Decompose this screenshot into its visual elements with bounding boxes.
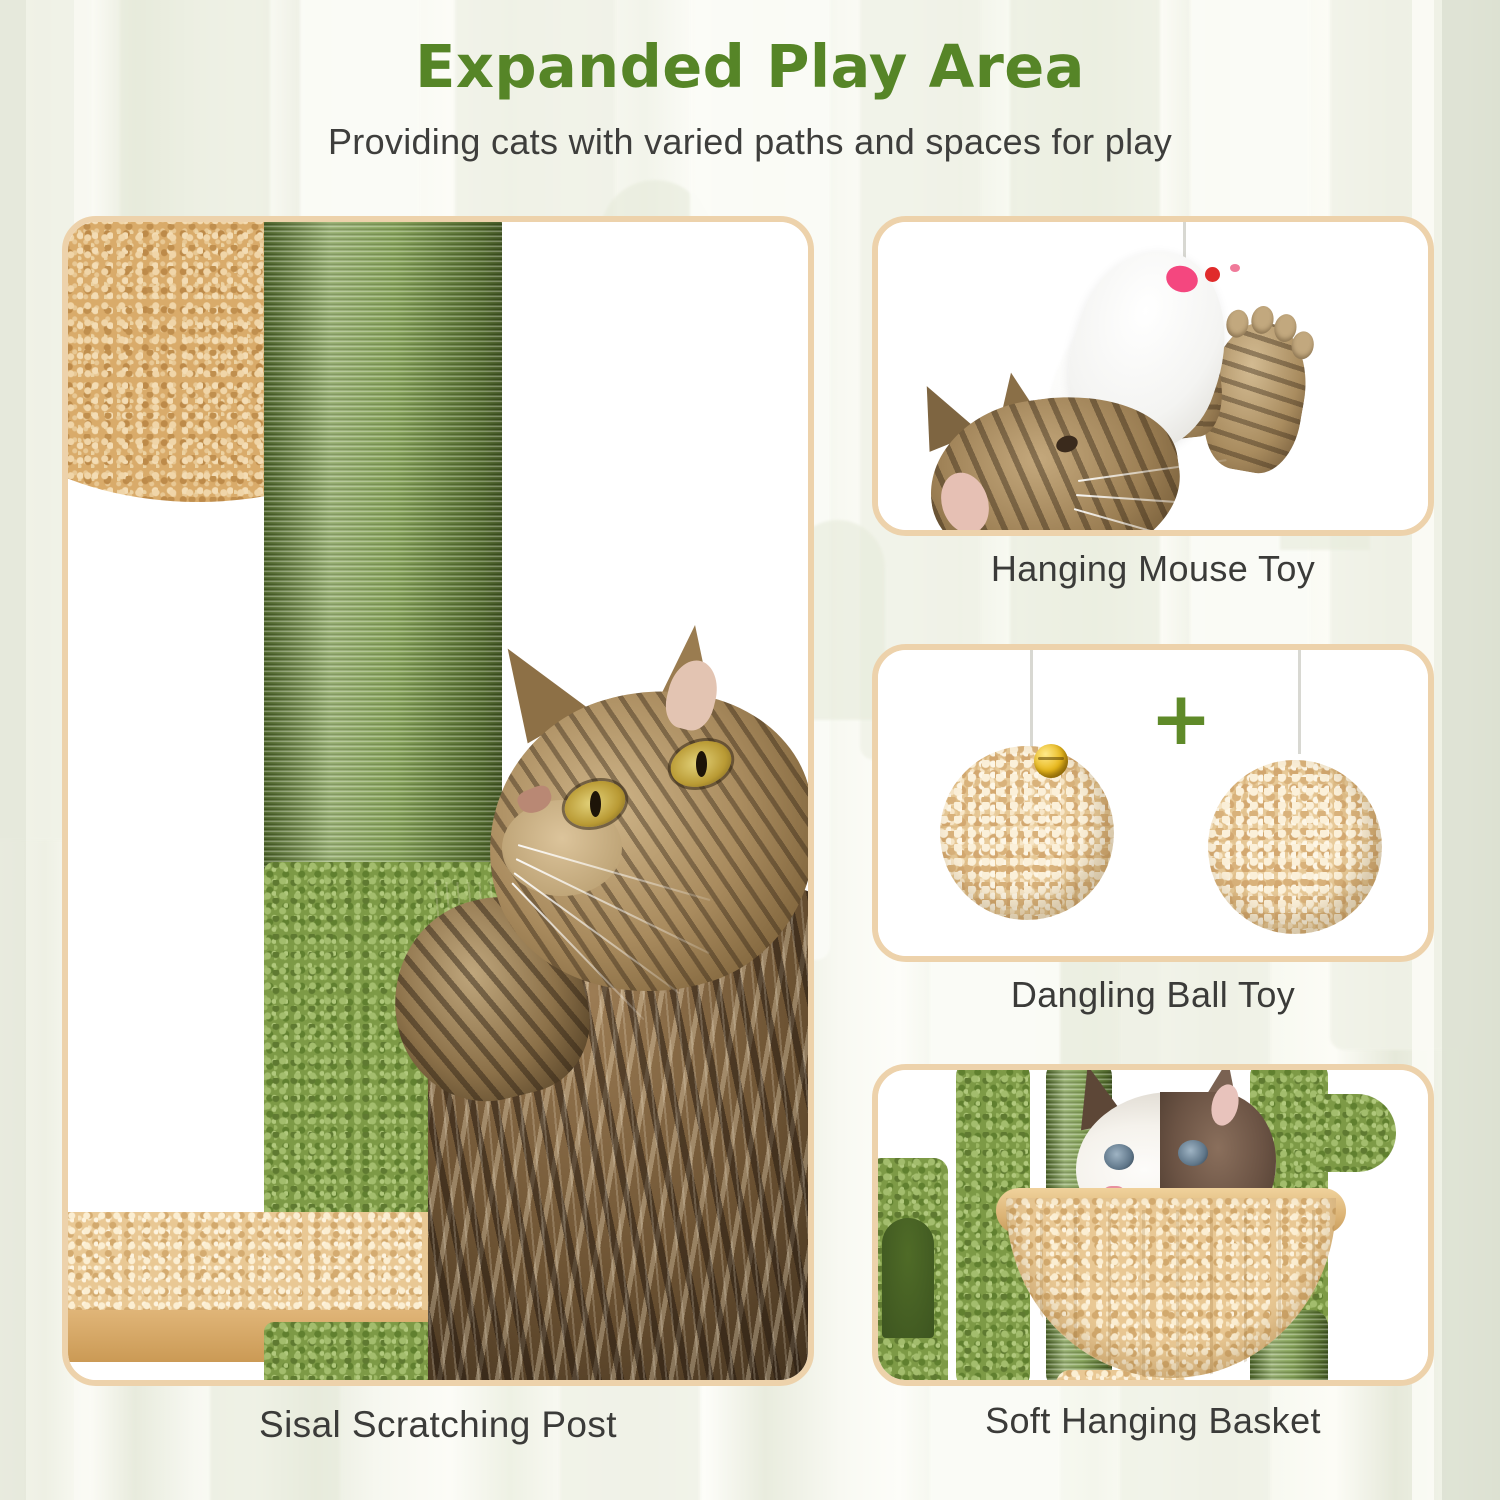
basket-cat-eye-left: [1104, 1144, 1134, 1170]
header: Expanded Play Area Providing cats with v…: [0, 36, 1500, 162]
ball-string-right: [1298, 650, 1301, 754]
cat-pupil-left: [590, 791, 601, 817]
infographic-stage: Expanded Play Area Providing cats with v…: [0, 0, 1500, 1500]
pom-pom-ball-plain: [1208, 760, 1382, 934]
gold-bell-icon: [1034, 744, 1068, 778]
hanging-mouse-scene: [878, 222, 1428, 530]
page-subtitle: Providing cats with varied paths and spa…: [0, 122, 1500, 162]
page-title: Expanded Play Area: [0, 36, 1500, 98]
mouse-toy-eye: [1205, 267, 1220, 282]
hanging-basket-scene: [878, 1070, 1428, 1380]
dangling-ball-scene: +: [878, 650, 1428, 956]
panel-soft-hanging-basket[interactable]: [872, 1064, 1434, 1386]
cactus-arm: [1316, 1094, 1396, 1172]
panel-dangling-ball-toy[interactable]: +: [872, 644, 1434, 962]
tabby-cat-illustration: [368, 582, 808, 1380]
mouse-toy-nose: [1230, 264, 1240, 272]
basket-cat-eye-right: [1178, 1140, 1208, 1166]
caption-sisal-scratching-post: Sisal Scratching Post: [62, 1404, 814, 1446]
plus-sign: +: [1150, 682, 1212, 756]
pom-pom-ball-with-bell: [940, 746, 1114, 920]
panel-sisal-scratching-post[interactable]: [62, 216, 814, 1386]
panel-hanging-mouse-toy[interactable]: [872, 216, 1434, 536]
caption-soft-hanging-basket: Soft Hanging Basket: [872, 1400, 1434, 1442]
ball-string-left: [1030, 650, 1033, 754]
condo-entrance-hole: [882, 1218, 934, 1338]
caption-hanging-mouse-toy: Hanging Mouse Toy: [872, 548, 1434, 590]
caption-dangling-ball-toy: Dangling Ball Toy: [872, 974, 1434, 1016]
sisal-post-scene: [68, 222, 808, 1380]
cat-pupil-right: [696, 751, 707, 777]
